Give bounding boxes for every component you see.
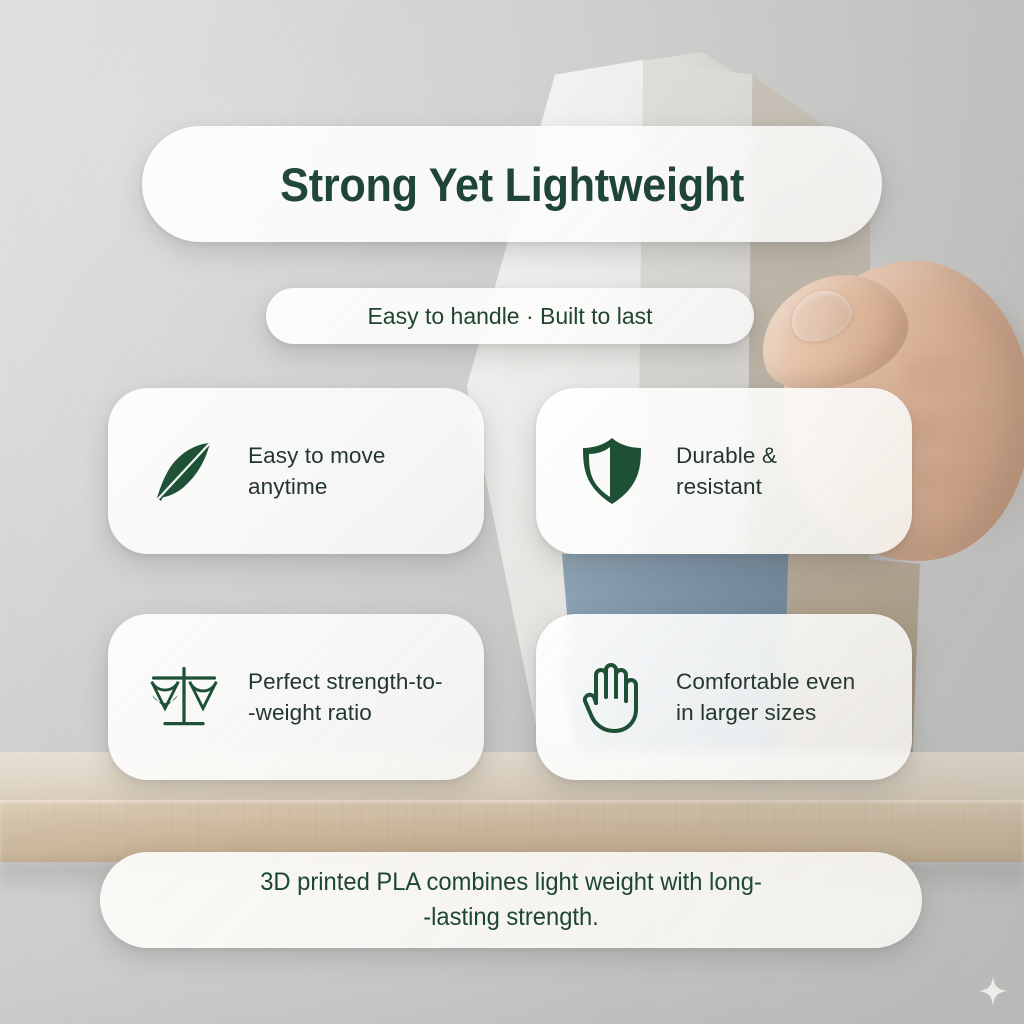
- feature-label-line2: anytime: [248, 474, 327, 499]
- feature-card-label: Perfect strength-to- -weight ratio: [248, 666, 443, 728]
- footer-line1: 3D printed PLA combines light weight wit…: [260, 868, 762, 896]
- balance-scale-icon: [146, 659, 222, 735]
- feature-label-line1: Perfect strength-to-: [248, 669, 443, 694]
- feature-label-line2: in larger sizes: [676, 700, 816, 725]
- subtitle-pill: Easy to handle · Built to last: [266, 288, 754, 344]
- page-subtitle: Easy to handle · Built to last: [367, 303, 652, 330]
- feature-label-line1: Comfortable even: [676, 669, 855, 694]
- sparkle-icon: [978, 976, 1008, 1006]
- page-title: Strong Yet Lightweight: [280, 157, 744, 212]
- feather-icon: [146, 433, 222, 509]
- feature-card-durable-resistant[interactable]: Durable & resistant: [536, 388, 912, 554]
- feature-label-line1: Durable &: [676, 443, 777, 468]
- title-banner: Strong Yet Lightweight: [142, 126, 882, 242]
- open-hand-icon: [574, 659, 650, 735]
- feature-label-line2: resistant: [676, 474, 762, 499]
- feature-card-label: Durable & resistant: [676, 440, 777, 502]
- feature-label-line2: -weight ratio: [248, 700, 372, 725]
- feature-card-label: Comfortable even in larger sizes: [676, 666, 855, 728]
- shield-icon: [574, 433, 650, 509]
- feature-label-line1: Easy to move: [248, 443, 386, 468]
- footer-banner: 3D printed PLA combines light weight wit…: [100, 852, 922, 948]
- footer-line2: -lasting strength.: [423, 903, 599, 931]
- feature-card-label: Easy to move anytime: [248, 440, 386, 502]
- footer-text: 3D printed PLA combines light weight wit…: [260, 865, 762, 935]
- feature-card-easy-to-move[interactable]: Easy to move anytime: [108, 388, 484, 554]
- feature-card-comfortable-larger-sizes[interactable]: Comfortable even in larger sizes: [536, 614, 912, 780]
- feature-card-strength-weight-ratio[interactable]: Perfect strength-to- -weight ratio: [108, 614, 484, 780]
- poster-canvas: Strong Yet Lightweight Easy to handle · …: [0, 0, 1024, 1024]
